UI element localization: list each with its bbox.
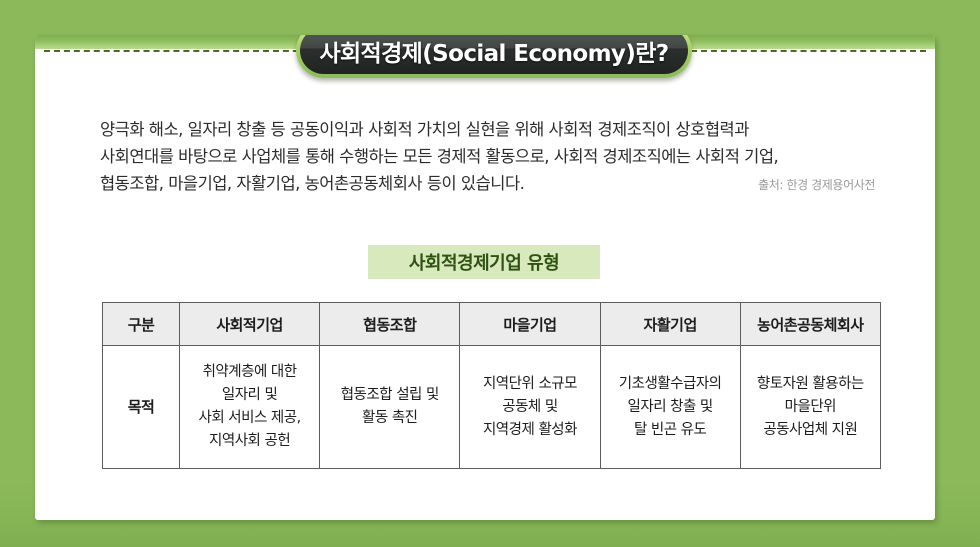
table-header-cell-0: 구분 — [103, 303, 180, 346]
table-header-cell-4: 자활기업 — [600, 303, 740, 346]
cell-line: 지역경제 활성화 — [464, 419, 595, 442]
cell-lines: 취약계층에 대한일자리 및사회 서비스 제공,지역사회 공헌 — [184, 361, 315, 453]
cell-line: 공동체 및 — [464, 396, 595, 419]
cell-lines: 향토자원 활용하는마을단위공동사업체 지원 — [745, 373, 876, 442]
page-title: 사회적경제(Social Economy)란? — [319, 35, 668, 68]
cell-line: 공동사업체 지원 — [745, 419, 876, 442]
cell-line: 탈 빈곤 유도 — [605, 419, 736, 442]
types-table-wrapper: 구분 사회적기업 협동조합 마을기업 자활기업 농어촌공동체회사 목적 취약계층… — [102, 302, 880, 469]
table-header-row: 구분 사회적기업 협동조합 마을기업 자활기업 농어촌공동체회사 — [103, 303, 881, 346]
content-card: 사회적경제(Social Economy)란? 양극화 해소, 일자리 창출 등… — [35, 35, 935, 520]
table-header-cell-1: 사회적기업 — [180, 303, 320, 346]
cell-line: 향토자원 활용하는 — [745, 373, 876, 396]
cell-lines: 지역단위 소규모공동체 및지역경제 활성화 — [464, 373, 595, 442]
title-pill: 사회적경제(Social Economy)란? — [296, 35, 692, 78]
title-pill-inner: 사회적경제(Social Economy)란? — [300, 35, 688, 74]
types-table: 구분 사회적기업 협동조합 마을기업 자활기업 농어촌공동체회사 목적 취약계층… — [102, 302, 881, 469]
cell-line: 취약계층에 대한 — [184, 361, 315, 384]
cell-lines: 협동조합 설립 및활동 촉진 — [324, 384, 455, 430]
table-cell-social-enterprise: 취약계층에 대한일자리 및사회 서비스 제공,지역사회 공헌 — [180, 346, 320, 469]
table-row-label: 목적 — [103, 346, 180, 469]
section-header-band: 사회적경제기업 유형 — [368, 245, 600, 279]
cell-line: 사회 서비스 제공, — [184, 407, 315, 430]
cell-line: 활동 촉진 — [324, 407, 455, 430]
cell-line: 기초생활수급자의 — [605, 373, 736, 396]
cell-line: 지역단위 소규모 — [464, 373, 595, 396]
paragraph-line-3-row: 협동조합, 마을기업, 자활기업, 농어촌공동체회사 등이 있습니다. 출처: … — [100, 170, 875, 199]
cell-line: 지역사회 공헌 — [184, 430, 315, 453]
source-attribution: 출처: 한경 경제용어사전 — [758, 172, 875, 199]
cell-line: 마을단위 — [745, 396, 876, 419]
section-header-label: 사회적경제기업 유형 — [409, 249, 559, 275]
cell-line: 협동조합 설립 및 — [324, 384, 455, 407]
cell-line: 일자리 및 — [184, 384, 315, 407]
paragraph-line-3: 협동조합, 마을기업, 자활기업, 농어촌공동체회사 등이 있습니다. — [100, 170, 524, 197]
table-header-cell-3: 마을기업 — [460, 303, 600, 346]
table-cell-rural-community-company: 향토자원 활용하는마을단위공동사업체 지원 — [740, 346, 880, 469]
cell-line: 일자리 창출 및 — [605, 396, 736, 419]
table-cell-self-sufficiency-enterprise: 기초생활수급자의일자리 창출 및탈 빈곤 유도 — [600, 346, 740, 469]
table-header-cell-5: 농어촌공동체회사 — [740, 303, 880, 346]
description-paragraph: 양극화 해소, 일자리 창출 등 공동이익과 사회적 가치의 실현을 위해 사회… — [100, 116, 875, 199]
table-row: 목적 취약계층에 대한일자리 및사회 서비스 제공,지역사회 공헌 협동조합 설… — [103, 346, 881, 469]
table-cell-cooperative: 협동조합 설립 및활동 촉진 — [320, 346, 460, 469]
paragraph-line-1: 양극화 해소, 일자리 창출 등 공동이익과 사회적 가치의 실현을 위해 사회… — [100, 116, 875, 143]
table-header-cell-2: 협동조합 — [320, 303, 460, 346]
cell-lines: 기초생활수급자의일자리 창출 및탈 빈곤 유도 — [605, 373, 736, 442]
paragraph-line-2: 사회연대를 바탕으로 사업체를 통해 수행하는 모든 경제적 활동으로, 사회적… — [100, 143, 875, 170]
table-cell-village-enterprise: 지역단위 소규모공동체 및지역경제 활성화 — [460, 346, 600, 469]
